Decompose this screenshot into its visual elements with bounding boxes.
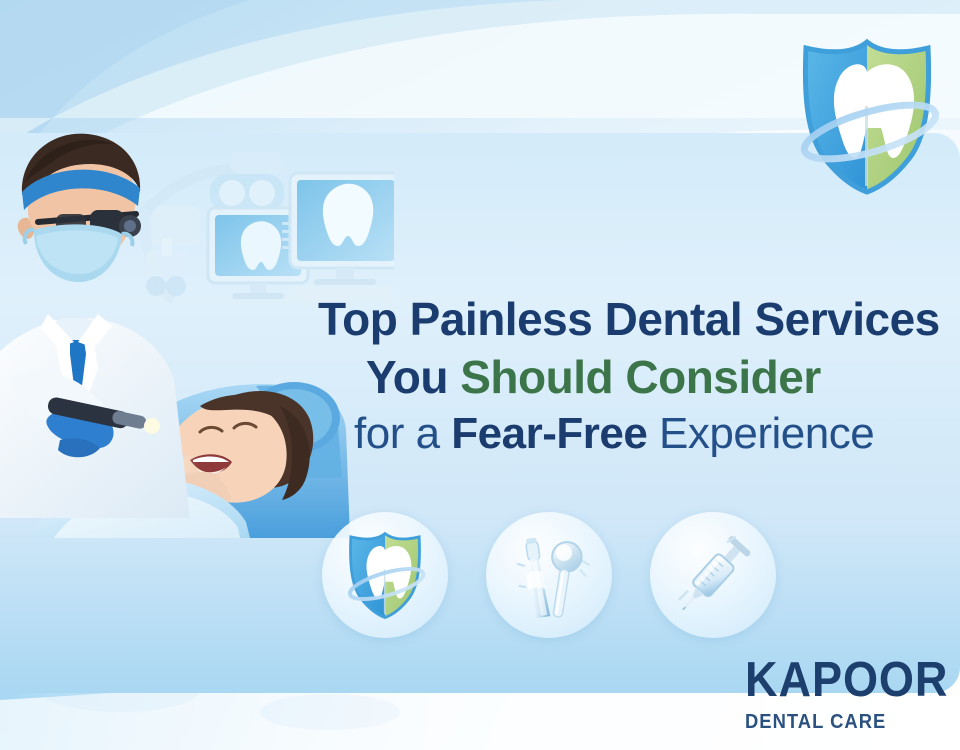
shield-tooth-logo-icon (792, 36, 942, 196)
headline-line-1: Top Painless Dental Services (318, 296, 960, 342)
toothbrush-and-dental-mirror-icon (503, 529, 595, 621)
headline-line-3: for a Fear-Free Experience (318, 412, 960, 456)
feature-circle-2 (486, 512, 612, 638)
headline-line-2-green: Should Consider (460, 351, 821, 403)
brand-lockup: KAPOOR DENTAL CARE (745, 656, 960, 732)
page-title: Top Painless Dental Services You Should … (318, 296, 960, 456)
brand-tagline: DENTAL CARE (745, 712, 948, 732)
headline-line-2-navy: You (366, 351, 460, 403)
headline-line-3-strong: Fear-Free (451, 409, 647, 458)
shield-tooth-icon (343, 529, 427, 621)
brand-name: KAPOOR (745, 656, 948, 705)
headline-line-3-light: for a (354, 409, 451, 458)
dental-marketing-banner: Top Painless Dental Services You Should … (0, 0, 960, 750)
feature-circle-3 (650, 512, 776, 638)
syringe-icon (667, 529, 759, 621)
headline-line-3-tail: Experience (647, 409, 874, 458)
headline-line-2: You Should Consider (318, 354, 960, 400)
feature-circle-1 (322, 512, 448, 638)
feature-icon-row (322, 512, 776, 638)
